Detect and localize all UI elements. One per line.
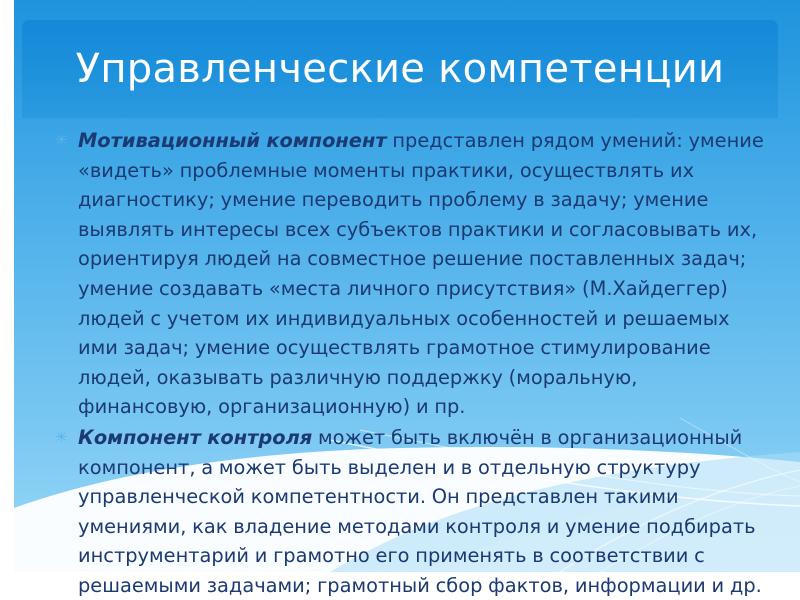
asterisk-bullet-icon: ✳	[52, 126, 78, 156]
presentation-slide: Управленческие компетенции ✳ Мотивационн…	[0, 0, 800, 600]
bullet-lead-term: Мотивационный компонент	[78, 129, 387, 152]
list-item: ✳ Компонент контроля может быть включён …	[52, 423, 764, 600]
bullet-lead-term: Компонент контроля	[78, 426, 312, 449]
list-item: ✳ Мотивационный компонент представлен ря…	[52, 126, 764, 422]
slide-body: ✳ Мотивационный компонент представлен ря…	[52, 126, 764, 600]
asterisk-bullet-icon: ✳	[52, 423, 78, 453]
bullet-paragraph: Компонент контроля может быть включён в …	[78, 423, 764, 600]
bullet-paragraph: Мотивационный компонент представлен рядо…	[78, 126, 764, 422]
bullet-body-text: может быть включён в организационный ком…	[78, 426, 762, 597]
bullet-body-text: представлен рядом умений: умение «видеть…	[78, 129, 764, 418]
page-title: Управленческие компетенции	[22, 20, 778, 118]
